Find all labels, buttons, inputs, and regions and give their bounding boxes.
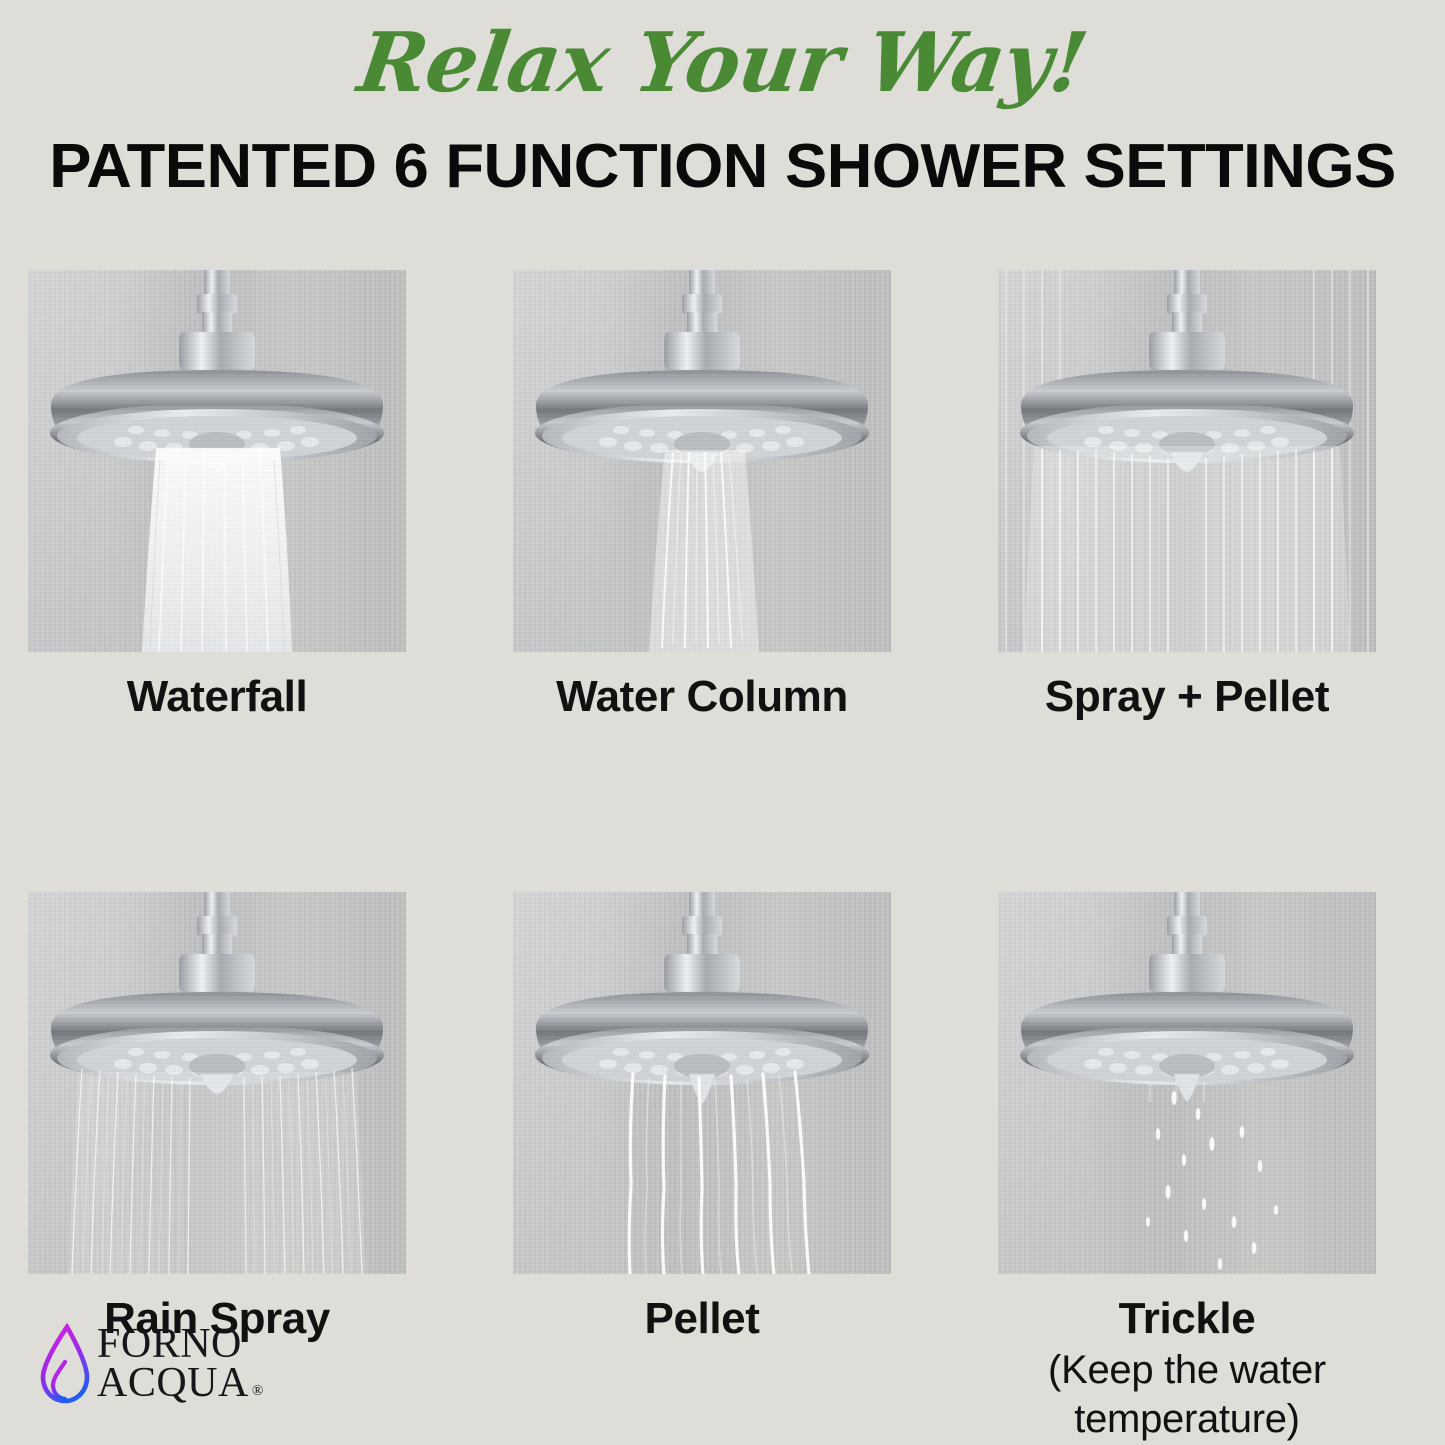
brand-logo[interactable]: FORNO ACQUA ® xyxy=(36,1322,264,1406)
showerhead-trickle-illustration xyxy=(998,892,1376,1274)
setting-card-spray-pellet[interactable]: Spray + Pellet xyxy=(998,270,1376,720)
shower-image-water-column xyxy=(513,270,891,652)
setting-label: Pellet xyxy=(513,1296,891,1342)
showerhead-spray-pellet-illustration xyxy=(998,270,1376,652)
setting-card-pellet[interactable]: Pellet xyxy=(513,892,891,1444)
setting-card-water-column[interactable]: Water Column xyxy=(513,270,891,720)
shower-image-pellet xyxy=(513,892,891,1274)
logo-line-acqua-wrap: ACQUA ® xyxy=(97,1364,264,1403)
setting-label: Trickle xyxy=(998,1296,1376,1342)
shower-image-rain-spray xyxy=(28,892,406,1274)
shower-image-spray-pellet xyxy=(998,270,1376,652)
setting-label: Spray + Pellet xyxy=(998,674,1376,720)
setting-label: Waterfall xyxy=(28,674,406,720)
logo-line-acqua: ACQUA xyxy=(97,1364,249,1403)
logo-line-forno: FORNO xyxy=(97,1325,264,1364)
setting-label: Water Column xyxy=(513,674,891,720)
registered-mark: ® xyxy=(252,1385,264,1399)
shower-image-trickle xyxy=(998,892,1376,1274)
script-title: Relax Your Way! xyxy=(0,22,1445,104)
setting-card-waterfall[interactable]: Waterfall xyxy=(28,270,406,720)
header: Relax Your Way! PATENTED 6 FUNCTION SHOW… xyxy=(0,0,1445,198)
showerhead-waterfall-illustration xyxy=(28,270,406,652)
setting-card-trickle[interactable]: Trickle (Keep the water temperature) xyxy=(998,892,1376,1444)
water-drop-icon xyxy=(36,1322,90,1406)
shower-image-waterfall xyxy=(28,270,406,652)
settings-row-1: Waterfall xyxy=(0,270,1445,720)
logo-wordmark: FORNO ACQUA ® xyxy=(97,1325,264,1402)
setting-sublabel: (Keep the water temperature) xyxy=(998,1346,1376,1444)
showerhead-pellet-illustration xyxy=(513,892,891,1274)
page-title: PATENTED 6 FUNCTION SHOWER SETTINGS xyxy=(0,136,1445,198)
showerhead-water-column-illustration xyxy=(513,270,891,652)
settings-grid: Waterfall xyxy=(0,270,1445,1444)
showerhead-rain-spray-illustration xyxy=(28,892,406,1274)
